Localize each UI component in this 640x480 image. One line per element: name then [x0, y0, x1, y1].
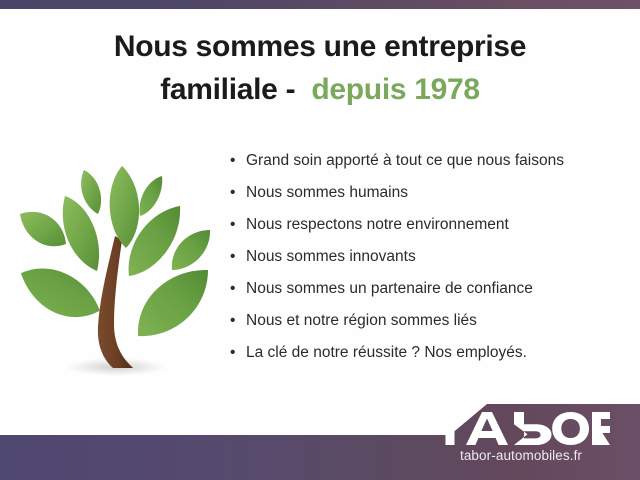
list-item: •Nous sommes innovants	[228, 246, 632, 268]
tree-leaf	[21, 261, 101, 324]
brand-block: tabor-automobiles.fr	[416, 412, 626, 463]
list-item: •Nous et notre région sommes liés	[228, 310, 632, 332]
page-title: Nous sommes une entreprise familiale - d…	[40, 26, 600, 111]
tree-leaf	[81, 170, 101, 214]
tree-leaf	[20, 212, 66, 246]
list-item-label: Nous sommes innovants	[246, 248, 416, 265]
bullet-marker-icon: •	[230, 150, 235, 172]
heading-accent-since-1978: depuis 1978	[311, 73, 479, 106]
bullet-marker-icon: •	[230, 246, 235, 268]
heading-line-1: Nous sommes une entreprise	[40, 26, 600, 69]
bullet-marker-icon: •	[230, 342, 235, 364]
bullet-marker-icon: •	[230, 278, 235, 300]
heading-line-2: familiale - depuis 1978	[40, 69, 600, 112]
footer-band: tabor-automobiles.fr	[0, 404, 640, 480]
tree-leaf	[138, 270, 208, 336]
heading-line-2-black: familiale -	[160, 73, 295, 106]
tree-leaf	[172, 230, 210, 270]
tabor-logo	[432, 412, 610, 446]
benefits-list: •Grand soin apporté à tout ce que nous f…	[228, 150, 632, 364]
list-item-label: Nous respectons notre environnement	[246, 216, 509, 233]
list-item-label: Nous sommes humains	[246, 184, 408, 201]
bullet-marker-icon: •	[230, 310, 235, 332]
bullet-marker-icon: •	[230, 214, 235, 236]
tree-illustration	[12, 148, 220, 390]
list-item: •Grand soin apporté à tout ce que nous f…	[228, 150, 632, 172]
list-item: •Nous sommes humains	[228, 182, 632, 204]
list-item: •Nous sommes un partenaire de confiance	[228, 278, 632, 300]
top-accent-bar	[0, 0, 640, 9]
list-item: •Nous respectons notre environnement	[228, 214, 632, 236]
tree-leaf	[110, 166, 139, 248]
slide-canvas: Nous sommes une entreprise familiale - d…	[0, 0, 640, 480]
tree-leaf	[140, 176, 163, 216]
list-item: •La clé de notre réussite ? Nos employés…	[228, 342, 632, 364]
list-item-label: Grand soin apporté à tout ce que nous fa…	[246, 152, 564, 169]
tree-trunk	[98, 236, 133, 368]
brand-url-label: tabor-automobiles.fr	[416, 448, 626, 463]
list-item-label: Nous sommes un partenaire de confiance	[246, 280, 533, 297]
list-item-label: Nous et notre région sommes liés	[246, 312, 477, 329]
list-item-label: La clé de notre réussite ? Nos employés.	[246, 344, 527, 361]
bullet-marker-icon: •	[230, 182, 235, 204]
